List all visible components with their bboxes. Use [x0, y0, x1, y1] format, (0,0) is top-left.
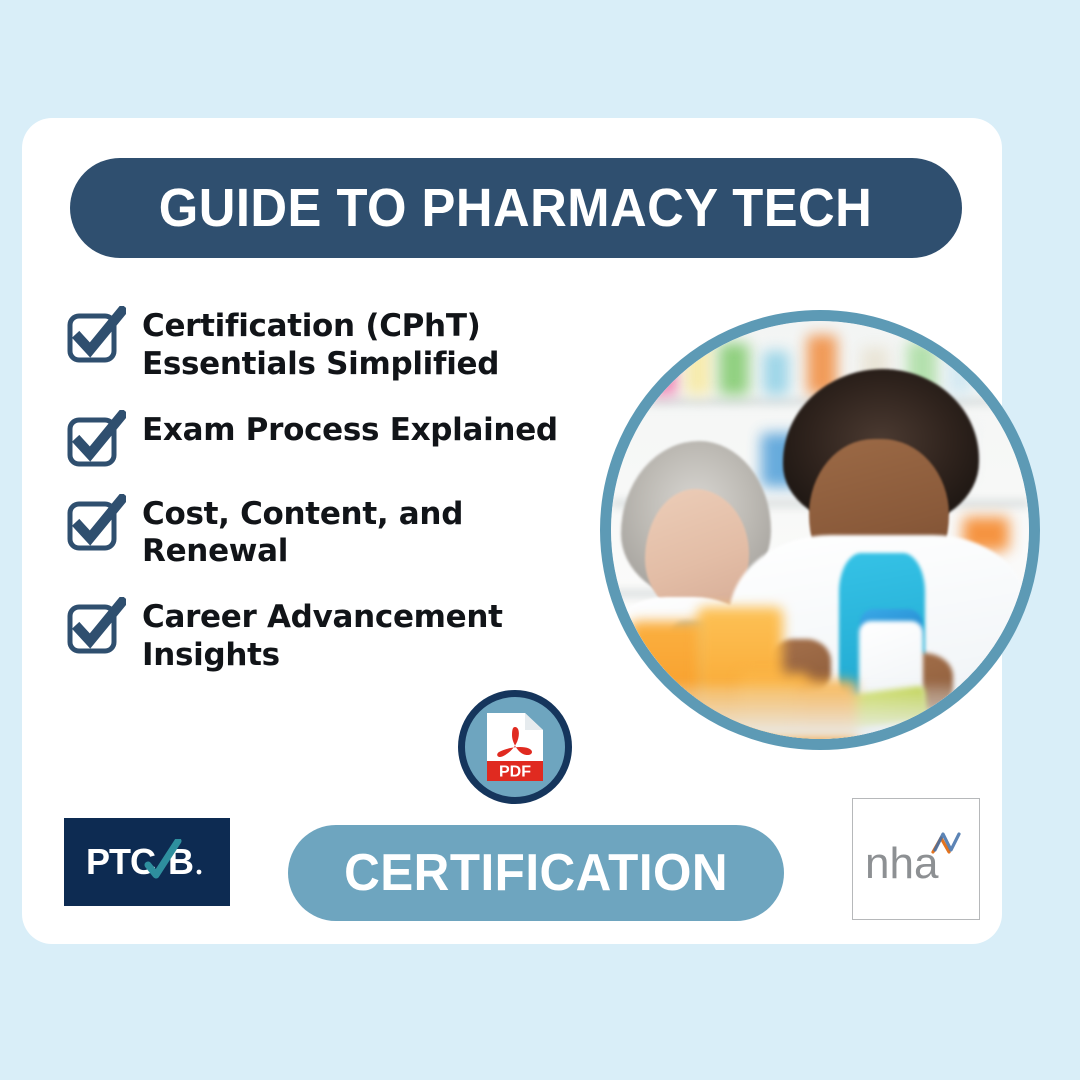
list-item: Cost, Content, and Renewal — [66, 494, 606, 572]
nha-logo: nha — [852, 798, 980, 920]
pharmacy-photo — [600, 310, 1040, 750]
checkbox-checked-icon — [66, 494, 126, 552]
svg-text:PTC: PTC — [86, 841, 156, 882]
title-banner: GUIDE TO PHARMACY TECH — [70, 158, 962, 258]
checkbox-checked-icon — [66, 410, 126, 468]
checkbox-checked-icon — [66, 306, 126, 364]
list-item-label: Cost, Content, and Renewal — [142, 494, 606, 572]
certification-button-label: CERTIFICATION — [344, 843, 728, 903]
checklist: Certification (CPhT) Essentials Simplifi… — [66, 306, 606, 675]
checkbox-checked-icon — [66, 597, 126, 655]
list-item-label: Career Advancement Insights — [142, 597, 606, 675]
svg-text:PDF: PDF — [499, 764, 531, 781]
list-item-label: Exam Process Explained — [142, 410, 558, 450]
poster: GUIDE TO PHARMACY TECH Certification (CP… — [0, 0, 1080, 1080]
pdf-badge-icon: PDF — [458, 690, 572, 804]
svg-text:nha: nha — [865, 839, 939, 888]
list-item: Certification (CPhT) Essentials Simplifi… — [66, 306, 606, 384]
page-title: GUIDE TO PHARMACY TECH — [159, 177, 873, 239]
list-item-label: Certification (CPhT) Essentials Simplifi… — [142, 306, 606, 384]
certification-button[interactable]: CERTIFICATION — [288, 825, 784, 921]
ptcb-logo: PTC B — [64, 818, 230, 906]
list-item: Exam Process Explained — [66, 410, 606, 468]
list-item: Career Advancement Insights — [66, 597, 606, 675]
